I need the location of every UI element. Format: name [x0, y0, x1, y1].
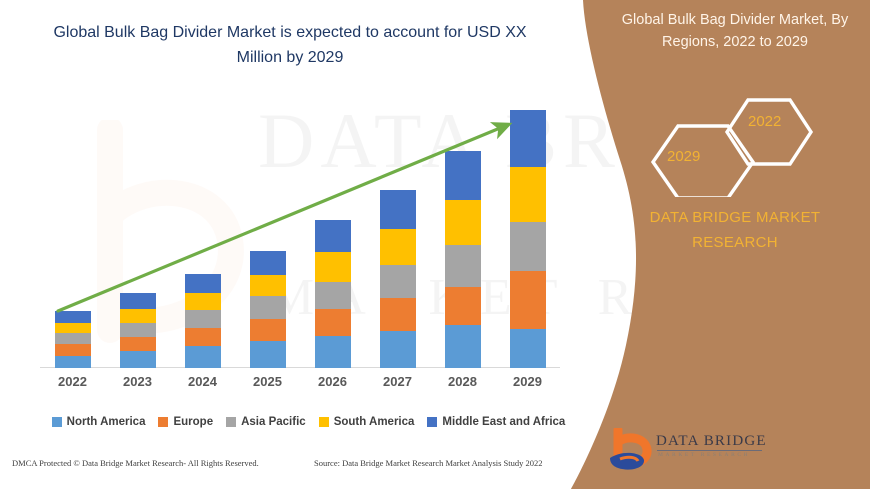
data-bridge-logo: DATA BRIDGE MARKET RESEARCH [608, 428, 778, 476]
bar-2022 [55, 311, 91, 368]
bar-segment [510, 110, 546, 167]
hexagon-2022-outline [727, 100, 811, 164]
legend-swatch [319, 417, 329, 427]
x-axis-labels: 20222023202420252026202720282029 [40, 374, 560, 394]
bar-segment [445, 151, 481, 200]
bar-segment [55, 344, 91, 357]
bar-segment [445, 287, 481, 326]
legend-swatch [226, 417, 236, 427]
hexagon-2029-label: 2029 [667, 148, 700, 165]
data-bridge-mark-icon [608, 428, 658, 476]
chart-pane: Global Bulk Bag Divider Market is expect… [0, 0, 600, 489]
x-axis-label-2022: 2022 [42, 374, 104, 389]
bar-segment [120, 337, 156, 351]
footer-copyright: DMCA Protected © Data Bridge Market Rese… [12, 458, 259, 468]
bar-segment [445, 325, 481, 368]
bar-segment [380, 265, 416, 299]
legend-swatch [52, 417, 62, 427]
bar-segment [380, 190, 416, 229]
brand-name: DATA BRIDGE MARKET RESEARCH [610, 205, 860, 255]
bar-segment [185, 346, 221, 368]
legend-swatch [427, 417, 437, 427]
bar-segment [185, 293, 221, 310]
x-axis-label-2023: 2023 [107, 374, 169, 389]
bar-segment [315, 252, 351, 282]
bar-segment [250, 275, 286, 296]
bar-2028 [445, 151, 481, 368]
logo-title: DATA BRIDGE [656, 433, 767, 450]
x-axis-label-2026: 2026 [302, 374, 364, 389]
bar-2025 [250, 251, 286, 368]
chart-legend: North AmericaEuropeAsia PacificSouth Ame… [36, 416, 581, 428]
bar-segment [315, 220, 351, 252]
legend-item-middle-east-and-africa[interactable]: Middle East and Africa [427, 416, 565, 428]
bar-segment [380, 331, 416, 368]
bar-segment [510, 329, 546, 368]
stacked-bar-plot [40, 110, 560, 368]
x-axis-label-2029: 2029 [497, 374, 559, 389]
panel-title: Global Bulk Bag Divider Market, By Regio… [608, 9, 862, 53]
bar-segment [55, 333, 91, 343]
bar-segment [120, 323, 156, 337]
x-axis-label-2024: 2024 [172, 374, 234, 389]
bar-segment [380, 298, 416, 330]
logo-divider [657, 450, 762, 451]
bar-segment [445, 245, 481, 286]
hexagon-shapes-icon [600, 92, 870, 197]
legend-item-asia-pacific[interactable]: Asia Pacific [226, 416, 306, 428]
bar-segment [445, 200, 481, 245]
bar-2026 [315, 220, 351, 368]
right-panel-content: Global Bulk Bag Divider Market, By Regio… [600, 0, 870, 489]
x-axis-label-2028: 2028 [432, 374, 494, 389]
bar-segment [510, 167, 546, 222]
bar-2027 [380, 190, 416, 368]
bar-segment [185, 328, 221, 346]
legend-label: Europe [173, 416, 213, 428]
legend-label: Asia Pacific [241, 416, 306, 428]
legend-swatch [158, 417, 168, 427]
x-axis-label-2025: 2025 [237, 374, 299, 389]
bar-segment [315, 282, 351, 309]
market-report-slide: DATA BRIDGE MARKET RESEARCH Global Bulk … [0, 0, 870, 489]
bar-segment [510, 271, 546, 329]
bar-2024 [185, 274, 221, 368]
bar-2023 [120, 293, 156, 368]
bar-segment [55, 323, 91, 333]
legend-label: Middle East and Africa [442, 416, 565, 428]
legend-label: North America [67, 416, 146, 428]
logo-subtitle: MARKET RESEARCH [658, 452, 750, 458]
legend-item-europe[interactable]: Europe [158, 416, 213, 428]
bar-segment [120, 309, 156, 323]
bar-segment [120, 351, 156, 368]
legend-item-south-america[interactable]: South America [319, 416, 415, 428]
hexagon-group [600, 92, 870, 197]
legend-label: South America [334, 416, 415, 428]
bar-segment [55, 311, 91, 323]
hexagon-2022-label: 2022 [748, 113, 781, 130]
bar-segment [315, 309, 351, 336]
bar-segment [250, 319, 286, 341]
x-axis-label-2027: 2027 [367, 374, 429, 389]
bar-segment [120, 293, 156, 308]
footer: DMCA Protected © Data Bridge Market Rese… [0, 458, 600, 478]
bar-segment [315, 336, 351, 368]
bar-segment [55, 356, 91, 368]
bar-segment [250, 341, 286, 368]
bar-segment [185, 310, 221, 328]
bar-segment [185, 274, 221, 293]
legend-item-north-america[interactable]: North America [52, 416, 146, 428]
bar-2029 [510, 110, 546, 368]
chart-title: Global Bulk Bag Divider Market is expect… [30, 20, 550, 70]
bar-segment [250, 251, 286, 276]
bar-segment [510, 222, 546, 271]
bar-segment [380, 229, 416, 265]
bar-segment [250, 296, 286, 319]
footer-source: Source: Data Bridge Market Research Mark… [314, 458, 543, 468]
